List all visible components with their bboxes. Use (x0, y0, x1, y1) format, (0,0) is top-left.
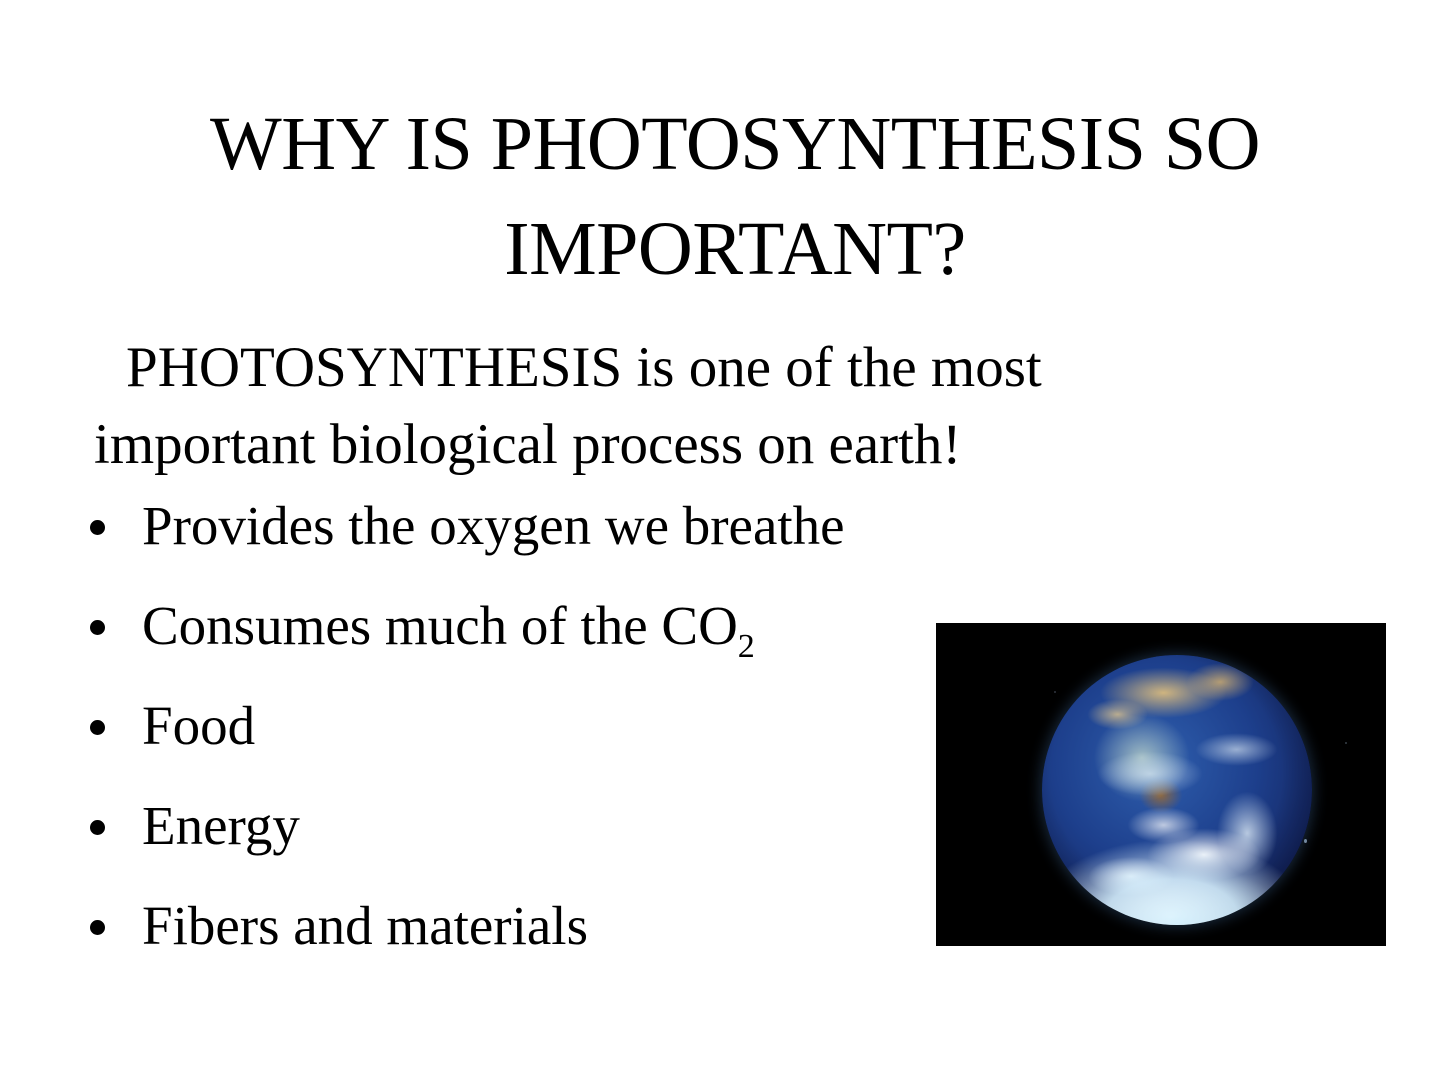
bullet-dot-icon (90, 920, 105, 935)
earth-polar-glow (1042, 655, 1312, 925)
bullet-dot-icon (90, 520, 105, 535)
star-speck-icon (1054, 691, 1056, 693)
list-item-label: Fibers and materials (142, 895, 588, 956)
bullet-dot-icon (90, 720, 105, 735)
bullet-dot-icon (90, 620, 105, 635)
earth-globe (1042, 655, 1312, 925)
list-item-label: Provides the oxygen we breathe (142, 495, 845, 556)
earth-from-space-photo (936, 623, 1386, 946)
star-speck-icon (1345, 742, 1347, 744)
list-item-subscript: 2 (738, 628, 755, 665)
presentation-slide: WHY IS PHOTOSYNTHESIS SO IMPORTANT? PHOT… (0, 0, 1440, 1080)
list-item-label: Energy (142, 795, 300, 856)
star-speck-icon (1304, 839, 1307, 843)
list-item-label: Consumes much of the CO (142, 595, 738, 656)
bullet-dot-icon (90, 820, 105, 835)
list-item: Provides the oxygen we breathe (82, 498, 1248, 564)
intro-paragraph: PHOTOSYNTHESIS is one of the most import… (94, 330, 1184, 484)
slide-title: WHY IS PHOTOSYNTHESIS SO IMPORTANT? (90, 92, 1380, 302)
list-item-label: Food (142, 695, 255, 756)
